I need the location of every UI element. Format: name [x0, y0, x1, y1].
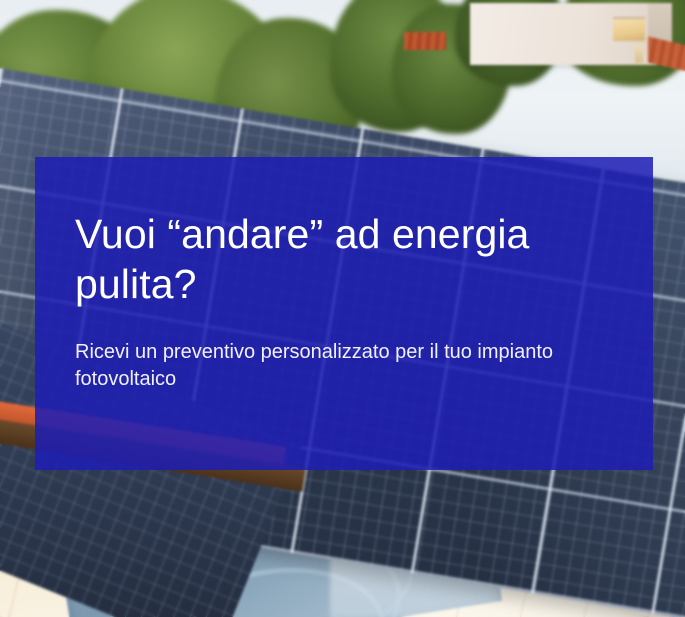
hero-overlay-panel: Vuoi “andare” ad energia pulita? Ricevi …	[35, 157, 653, 470]
hero-banner: Vuoi “andare” ad energia pulita? Ricevi …	[0, 0, 685, 617]
hero-headline: Vuoi “andare” ad energia pulita?	[75, 209, 605, 309]
terracotta-roof-left	[404, 32, 446, 50]
hero-subheadline: Ricevi un preventivo personalizzato per …	[75, 339, 595, 393]
building-window	[613, 17, 645, 41]
building-door	[635, 45, 643, 63]
